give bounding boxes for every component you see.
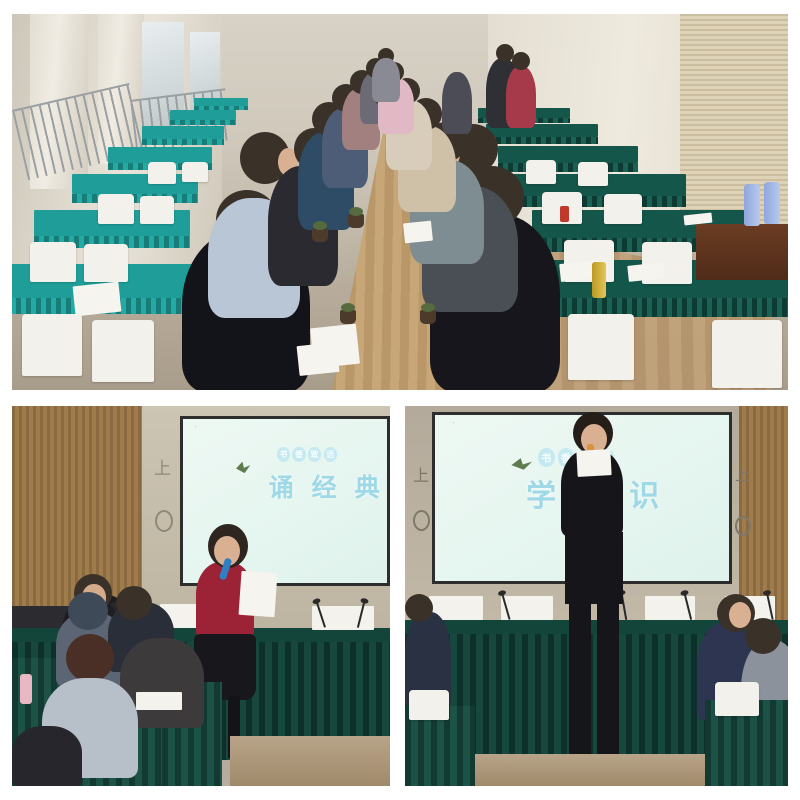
banquet-chair bbox=[578, 162, 608, 186]
projection-screen-frame: 书 香 致 远 诵 经 典 bbox=[180, 416, 390, 586]
banquet-chair bbox=[715, 682, 759, 716]
screen-badge: 香 bbox=[292, 447, 305, 462]
screen-badge: 远 bbox=[324, 447, 337, 462]
wall-letter: 上 bbox=[413, 462, 429, 484]
banquet-table bbox=[194, 98, 248, 106]
paper-handout bbox=[73, 282, 122, 317]
yellow-water-bottle bbox=[592, 262, 606, 298]
banquet-chair bbox=[22, 314, 82, 376]
wall-letter-g bbox=[413, 510, 430, 531]
hall-floor bbox=[230, 736, 390, 786]
banquet-chair bbox=[712, 320, 782, 388]
audience-paper bbox=[136, 692, 182, 710]
thermos-flask bbox=[764, 182, 780, 224]
banquet-chair bbox=[140, 196, 174, 224]
banquet-chair bbox=[526, 160, 556, 184]
audience-head bbox=[68, 592, 108, 630]
banquet-chair bbox=[30, 242, 76, 282]
red-cup bbox=[560, 206, 569, 222]
willow-branch-decoration bbox=[195, 426, 248, 482]
audience-head bbox=[745, 618, 781, 654]
banquet-chair bbox=[148, 162, 176, 184]
presenter-hips bbox=[565, 532, 623, 604]
attendee bbox=[372, 58, 400, 102]
screen-badge-row: 书 香 致 远 bbox=[277, 447, 337, 462]
banquet-table bbox=[108, 147, 212, 163]
paper-handout bbox=[403, 221, 433, 244]
presenter-leg bbox=[569, 602, 591, 758]
wall-letter: 上 bbox=[154, 454, 170, 476]
pink-water-bottle bbox=[20, 674, 32, 704]
banquet-chair bbox=[84, 244, 128, 282]
screen-title: 诵 经 典 bbox=[269, 468, 385, 504]
wooden-sideboard bbox=[696, 224, 788, 280]
script-sheet bbox=[576, 449, 611, 477]
potted-succulent bbox=[340, 310, 356, 324]
attendee bbox=[506, 66, 536, 128]
attendee-head bbox=[512, 52, 530, 70]
screen-badge: 致 bbox=[308, 447, 321, 462]
banquet-table bbox=[72, 174, 198, 194]
banquet-table bbox=[498, 146, 638, 163]
potted-succulent bbox=[348, 214, 364, 228]
banquet-chair bbox=[182, 162, 208, 182]
photo-panel-group-exchange bbox=[12, 14, 788, 390]
audience-member bbox=[12, 726, 82, 786]
presenter-leg bbox=[597, 602, 619, 758]
potted-succulent bbox=[312, 228, 328, 242]
attendee bbox=[442, 72, 472, 134]
willow-branch-decoration bbox=[453, 422, 529, 478]
potted-succulent bbox=[420, 310, 436, 324]
photo-panel-recite-classics: 上 书 香 致 远 诵 经 典 bbox=[12, 406, 390, 786]
script-sheet bbox=[239, 571, 278, 617]
banquet-chair bbox=[98, 194, 134, 224]
banquet-chair bbox=[568, 314, 634, 380]
banquet-table bbox=[142, 126, 224, 139]
wall-letter-s bbox=[735, 516, 751, 536]
audience-head bbox=[116, 586, 152, 620]
banquet-chair bbox=[409, 690, 449, 720]
wall-letter: 上 bbox=[735, 464, 749, 484]
banquet-chair bbox=[92, 320, 154, 382]
photo-panel-learn-knowledge: 上 上 书 香 致 远 学 知 识 bbox=[405, 406, 788, 786]
wall-letter-g bbox=[155, 510, 173, 532]
photo-collage: 上 书 香 致 远 诵 经 典 bbox=[0, 0, 800, 800]
banquet-table bbox=[170, 110, 236, 120]
thermos-flask bbox=[744, 184, 760, 226]
paper-handout bbox=[297, 342, 340, 376]
audience-head bbox=[405, 594, 433, 622]
screen-badge: 书 bbox=[538, 448, 555, 467]
audience-head bbox=[66, 634, 114, 682]
banquet-chair bbox=[604, 194, 642, 224]
screen-badge: 书 bbox=[277, 447, 290, 462]
